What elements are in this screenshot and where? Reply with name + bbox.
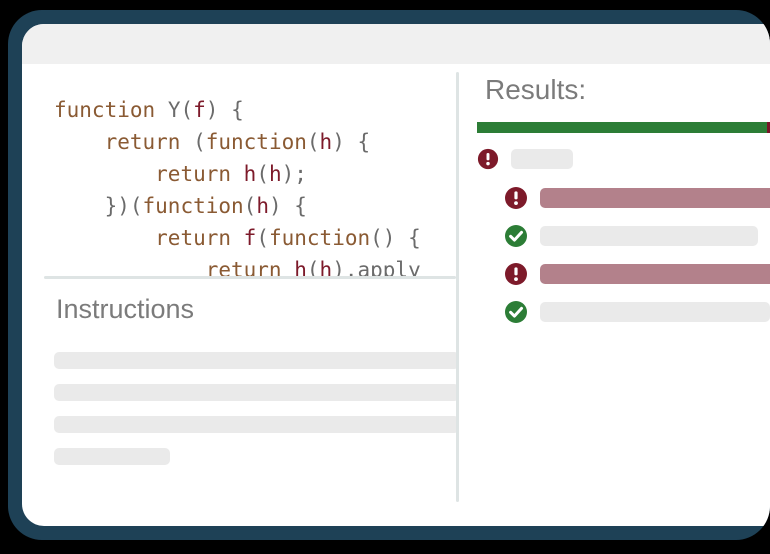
result-row[interactable] [504,186,770,210]
result-label-placeholder [540,302,770,322]
code-token: ) { [206,98,244,122]
code-token: function [143,194,244,218]
result-label-placeholder [511,149,573,169]
code-token: ( [180,98,193,122]
code-token: ); [282,162,307,186]
instructions-panel: Instructions [22,282,456,526]
instructions-placeholder-line [54,416,456,433]
code-token [54,130,105,154]
code-token [282,258,295,276]
code-token: return [206,258,282,276]
instructions-heading: Instructions [56,294,194,325]
check-circle-icon [504,224,528,248]
error-circle-icon [477,148,499,170]
error-circle-icon [504,186,528,210]
code-editor[interactable]: function Y(f) { return (function(h) { re… [22,64,456,276]
instructions-placeholder-line [54,448,170,465]
code-token: h [256,194,269,218]
result-row[interactable] [504,224,758,248]
code-token: ) { [269,194,307,218]
test-progress-bar [477,122,770,133]
code-token: f [193,98,206,122]
result-row[interactable] [504,300,770,324]
code-token [54,258,206,276]
error-circle-icon [504,262,528,286]
result-row[interactable] [477,148,573,170]
code-token: f [244,226,257,250]
code-token: return [155,226,231,250]
toolbar [22,24,770,64]
code-token [231,226,244,250]
code-token: ) { [332,130,370,154]
instructions-placeholder-line [54,352,456,369]
code-token: ( [256,162,269,186]
code-token: return [105,130,181,154]
device-frame: function Y(f) { return (function(h) { re… [8,10,770,540]
code-token: ).apply [332,258,421,276]
code-token [155,98,168,122]
result-label-placeholder [540,226,758,246]
window-body: function Y(f) { return (function(h) { re… [22,64,770,526]
results-pane: Results: [459,64,770,526]
code-token [54,162,155,186]
code-token: Y [168,98,181,122]
code-token: h [244,162,257,186]
result-label-placeholder [540,188,770,208]
instructions-placeholder-line [54,384,456,401]
code-token: h [269,162,282,186]
code-token: function [54,98,155,122]
check-circle-icon [504,300,528,324]
result-row[interactable] [504,262,770,286]
code-token: })( [54,194,143,218]
code-token: ( [256,226,269,250]
code-token: ( [307,130,320,154]
code-token: () { [370,226,421,250]
result-label-placeholder [540,264,770,284]
app-window: function Y(f) { return (function(h) { re… [22,24,770,526]
results-heading: Results: [485,74,586,106]
code-token: ( [307,258,320,276]
left-pane: function Y(f) { return (function(h) { re… [22,64,456,526]
code-token: h [294,258,307,276]
code-token [54,226,155,250]
code-text[interactable]: function Y(f) { return (function(h) { re… [54,94,421,276]
test-progress-pass-fill [477,122,767,133]
code-token: h [320,130,333,154]
code-token: function [206,130,307,154]
code-token: ( [180,130,205,154]
editor-divider [44,276,456,279]
code-token [231,162,244,186]
code-token: function [269,226,370,250]
code-token: h [320,258,333,276]
code-token: ( [244,194,257,218]
code-token: return [155,162,231,186]
